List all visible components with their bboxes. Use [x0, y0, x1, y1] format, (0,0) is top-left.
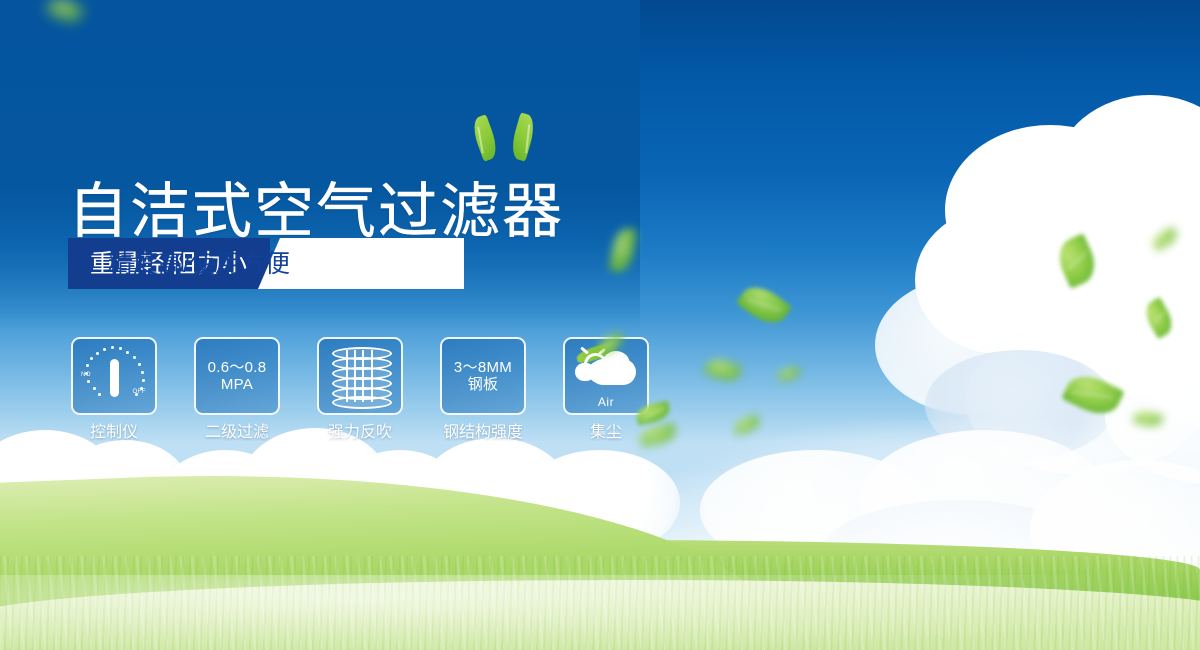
feature-item-back-blow[interactable]: 强力反吹	[318, 337, 402, 442]
steel-material: 钢板	[454, 376, 512, 393]
steel-plate-text-icon: 3～8MM 钢板	[454, 359, 512, 393]
feature-icon-box: 0.6～0.8 MPA	[194, 337, 280, 415]
steel-thickness: 3～8MM	[454, 359, 512, 376]
product-banner: 自洁式空气过滤器 重量轻/阻力小 精度高/使用方便	[0, 0, 1200, 650]
gauge-icon: NO OFF	[81, 346, 147, 406]
subtitle-bar: 重量轻/阻力小 精度高/使用方便	[68, 238, 464, 289]
feature-icon-box	[317, 337, 403, 415]
subtitle-right-text: 精度高/使用方便	[108, 249, 290, 279]
feature-icon-box: 3～8MM 钢板	[440, 337, 526, 415]
cloud-large-right	[905, 95, 1200, 485]
feature-icon-box: NO OFF	[71, 337, 157, 415]
feature-caption: 钢结构强度	[443, 424, 523, 442]
pressure-text-icon: 0.6～0.8 MPA	[208, 359, 267, 393]
air-label: Air	[574, 395, 638, 409]
page-title: 自洁式空气过滤器	[68, 182, 564, 242]
feature-item-controller[interactable]: NO OFF 控制仪	[72, 337, 156, 442]
filter-stack-icon	[332, 347, 388, 405]
feature-caption: 集尘	[590, 424, 622, 442]
feature-item-steel-strength[interactable]: 3～8MM 钢板 钢结构强度	[441, 337, 525, 442]
gauge-needle-icon	[110, 359, 119, 397]
pressure-unit: MPA	[208, 376, 267, 393]
pressure-value: 0.6～0.8	[208, 359, 267, 376]
feature-list: NO OFF 控制仪 0.6～0.8 MPA 二级过滤	[72, 337, 648, 442]
feature-caption: 强力反吹	[328, 424, 392, 442]
feature-caption: 二级过滤	[205, 424, 269, 442]
gauge-label-no: NO	[81, 372, 91, 378]
feature-item-dust-collection[interactable]: Air 集尘	[564, 337, 648, 442]
grass-foreground	[0, 580, 1200, 650]
feature-item-two-stage-filter[interactable]: 0.6～0.8 MPA 二级过滤	[195, 337, 279, 442]
feature-caption: 控制仪	[90, 424, 138, 442]
air-cloud-icon: Air	[574, 347, 638, 405]
gauge-label-off: OFF	[133, 389, 147, 395]
sun-icon	[584, 353, 607, 376]
